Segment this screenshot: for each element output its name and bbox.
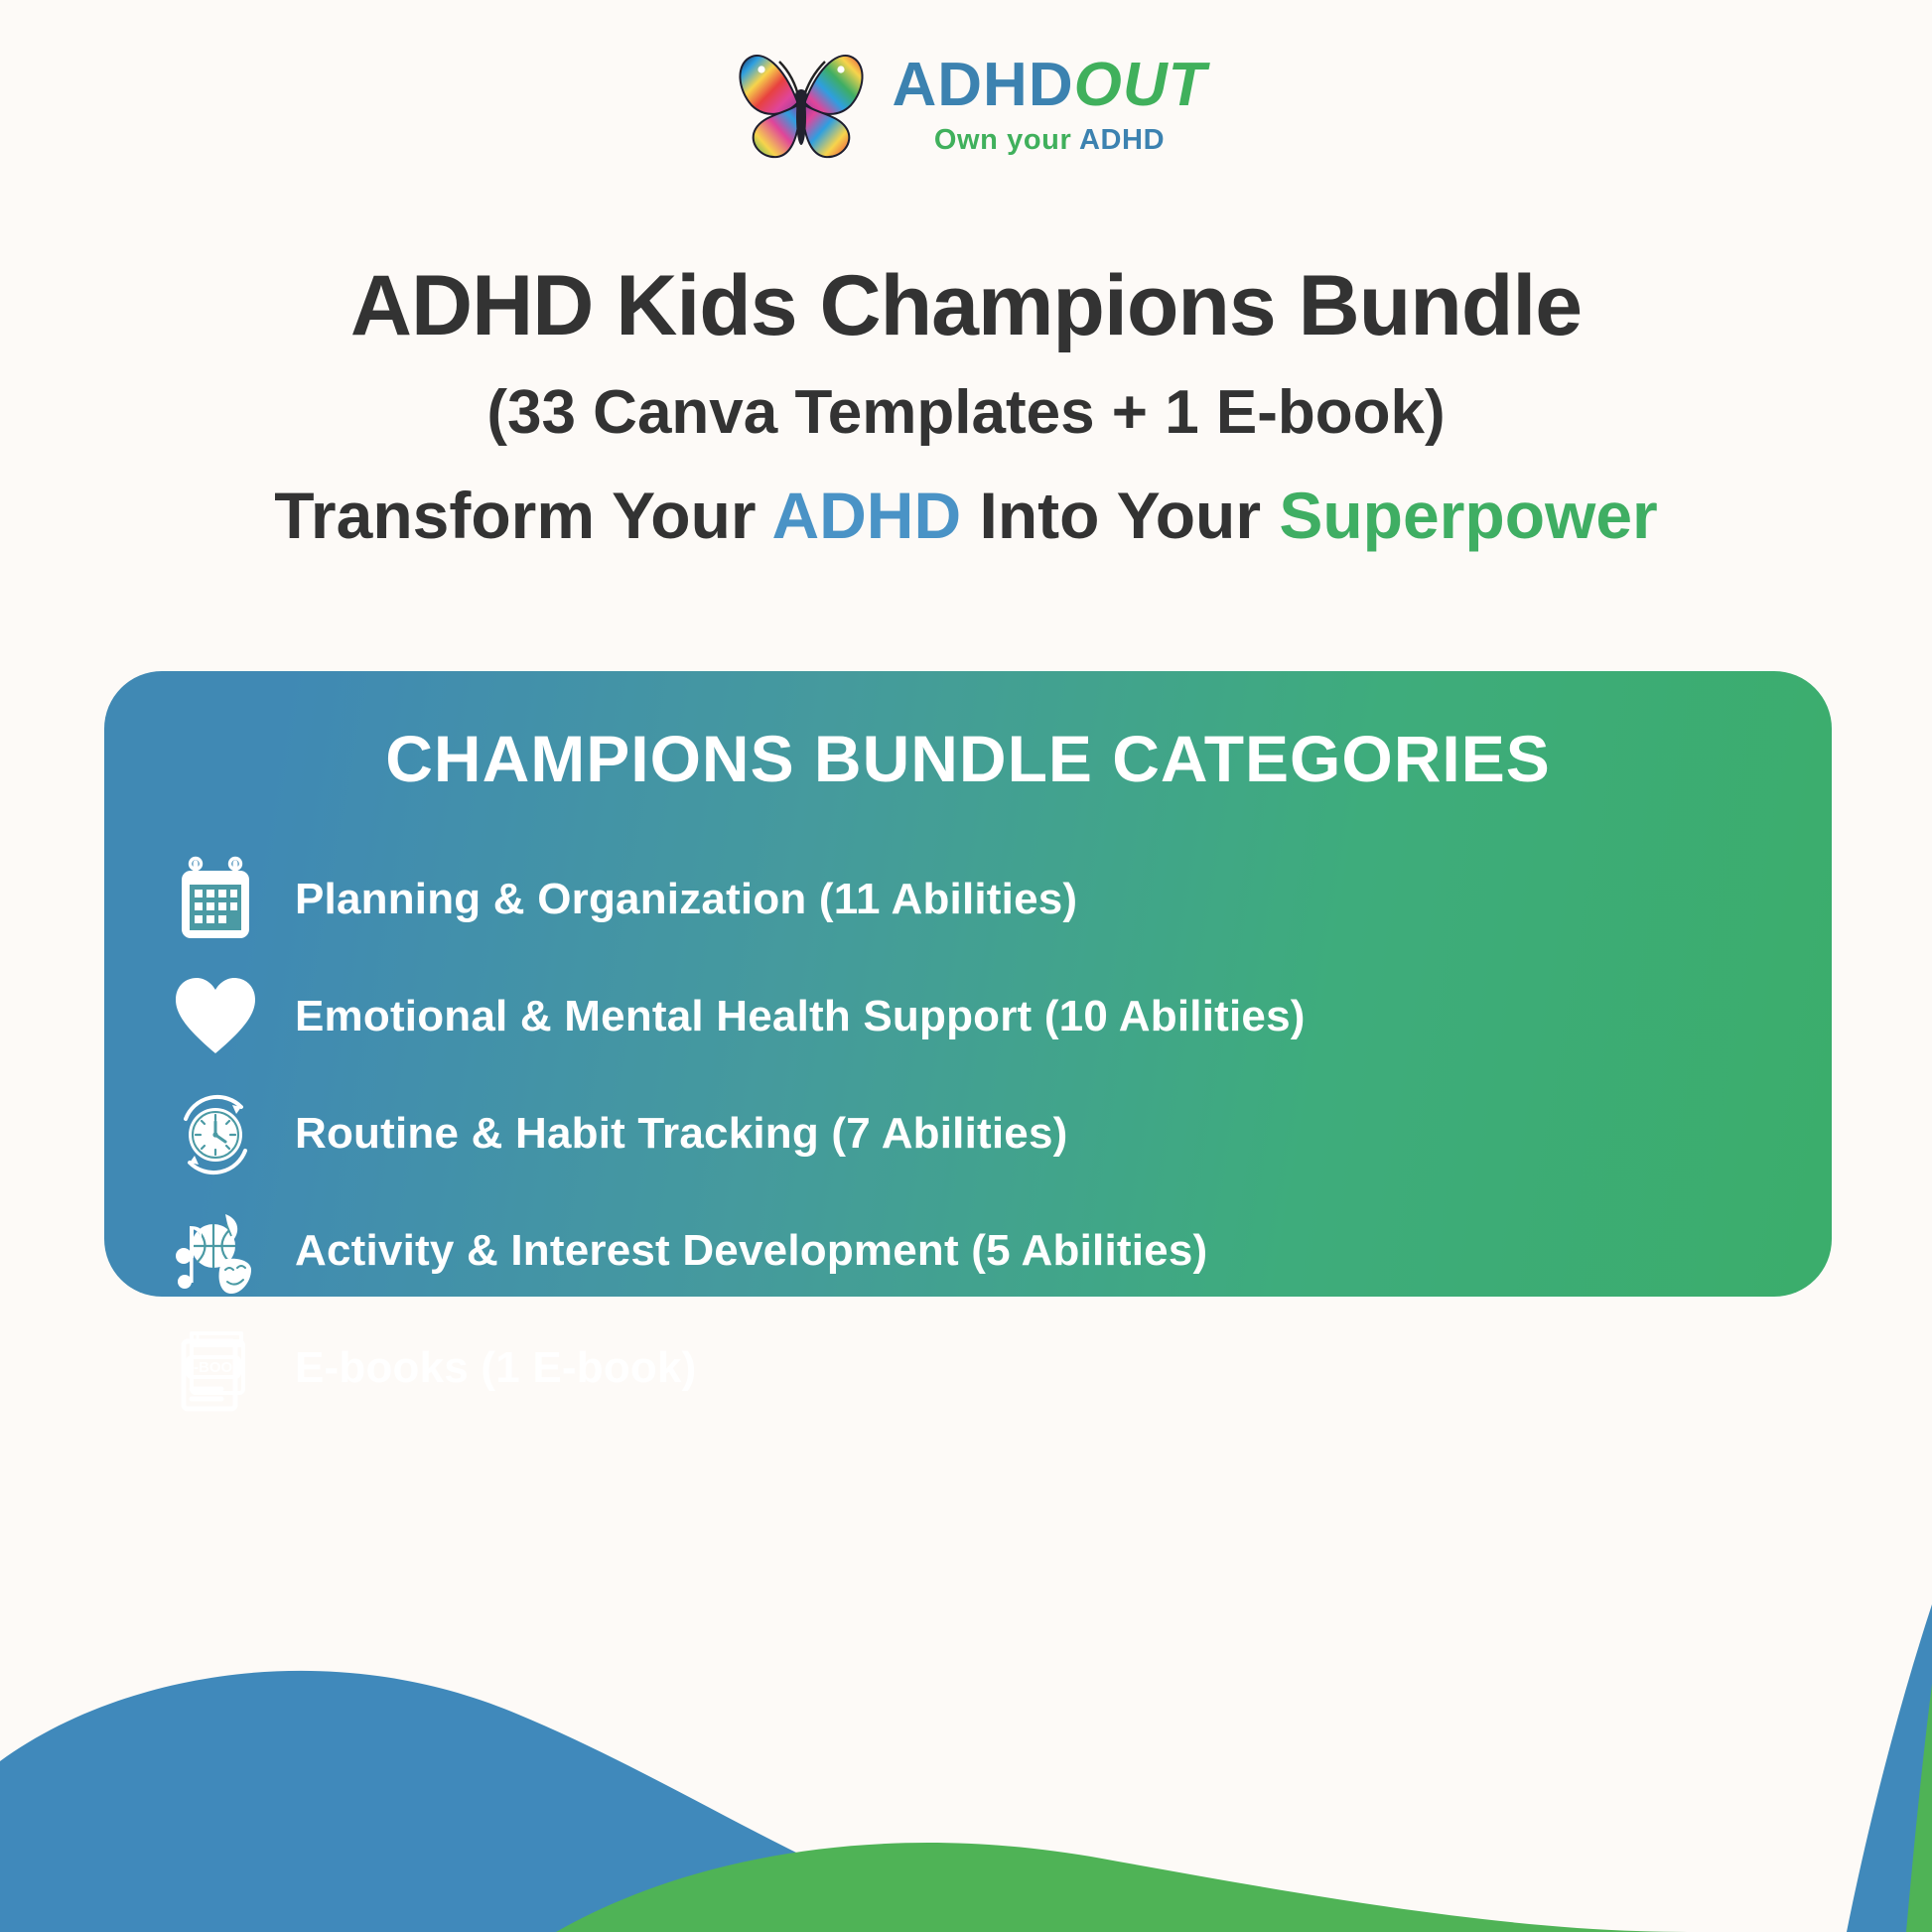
list-item: Planning & Organization (11 Abilities) <box>164 853 1832 948</box>
ebook-icon: E-BOOK <box>164 1321 267 1417</box>
heading-block: ADHD Kids Champions Bundle (33 Canva Tem… <box>0 258 1932 554</box>
wave-right-blue-shape <box>1847 1604 1932 1932</box>
ebook-icon-label: E-BOOK <box>184 1359 243 1376</box>
wave-green-shape <box>556 1843 1688 1932</box>
wave-blue-shape <box>0 1671 1003 1932</box>
category-label: Planning & Organization (11 Abilities) <box>295 876 1077 923</box>
categories-card-title: CHAMPIONS BUNDLE CATEGORIES <box>104 709 1832 795</box>
brand-tagline-part1: Own your <box>934 124 1072 156</box>
category-label: E-books (1 E-book) <box>295 1344 697 1392</box>
category-label: Emotional & Mental Health Support (10 Ab… <box>295 993 1306 1040</box>
brand-wordmark: ADHDOUT <box>893 54 1207 116</box>
decorative-waves <box>0 1604 1932 1932</box>
category-label: Activity & Interest Development (5 Abili… <box>295 1227 1207 1275</box>
list-item: Activity & Interest Development (5 Abili… <box>164 1204 1832 1300</box>
page-title: ADHD Kids Champions Bundle <box>0 258 1932 353</box>
butterfly-icon <box>726 34 875 173</box>
brand-name-primary: ADHD <box>893 54 1074 116</box>
categories-card: CHAMPIONS BUNDLE CATEGORIES <box>104 671 1832 1297</box>
calendar-icon <box>164 853 267 948</box>
tagline-pre: Transform Your <box>274 479 771 552</box>
list-item: Emotional & Mental Health Support (10 Ab… <box>164 970 1832 1065</box>
tagline-highlight-adhd: ADHD <box>771 479 961 552</box>
brand-name-secondary: OUT <box>1074 54 1207 116</box>
brand-tagline-part2: ADHD <box>1079 124 1165 156</box>
list-item: E-BOOK E-books (1 E-book) <box>164 1321 1832 1417</box>
list-item: Routine & Habit Tracking (7 Abilities) <box>164 1087 1832 1182</box>
wave-right-green-shape <box>1906 1684 1932 1932</box>
brand-logo: ADHDOUT Own your ADHD <box>0 34 1932 173</box>
category-label: Routine & Habit Tracking (7 Abilities) <box>295 1110 1068 1158</box>
clock-refresh-icon <box>164 1087 267 1182</box>
categories-list: Planning & Organization (11 Abilities) E… <box>104 853 1832 1417</box>
brand-tagline: Own your ADHD <box>934 124 1165 157</box>
page-tagline: Transform Your ADHD Into Your Superpower <box>0 479 1932 554</box>
tagline-highlight-superpower: Superpower <box>1279 479 1657 552</box>
heart-icon <box>164 970 267 1065</box>
activity-arts-icon <box>164 1204 267 1300</box>
tagline-mid: Into Your <box>961 479 1279 552</box>
page-subtitle: (33 Canva Templates + 1 E-book) <box>0 377 1932 448</box>
